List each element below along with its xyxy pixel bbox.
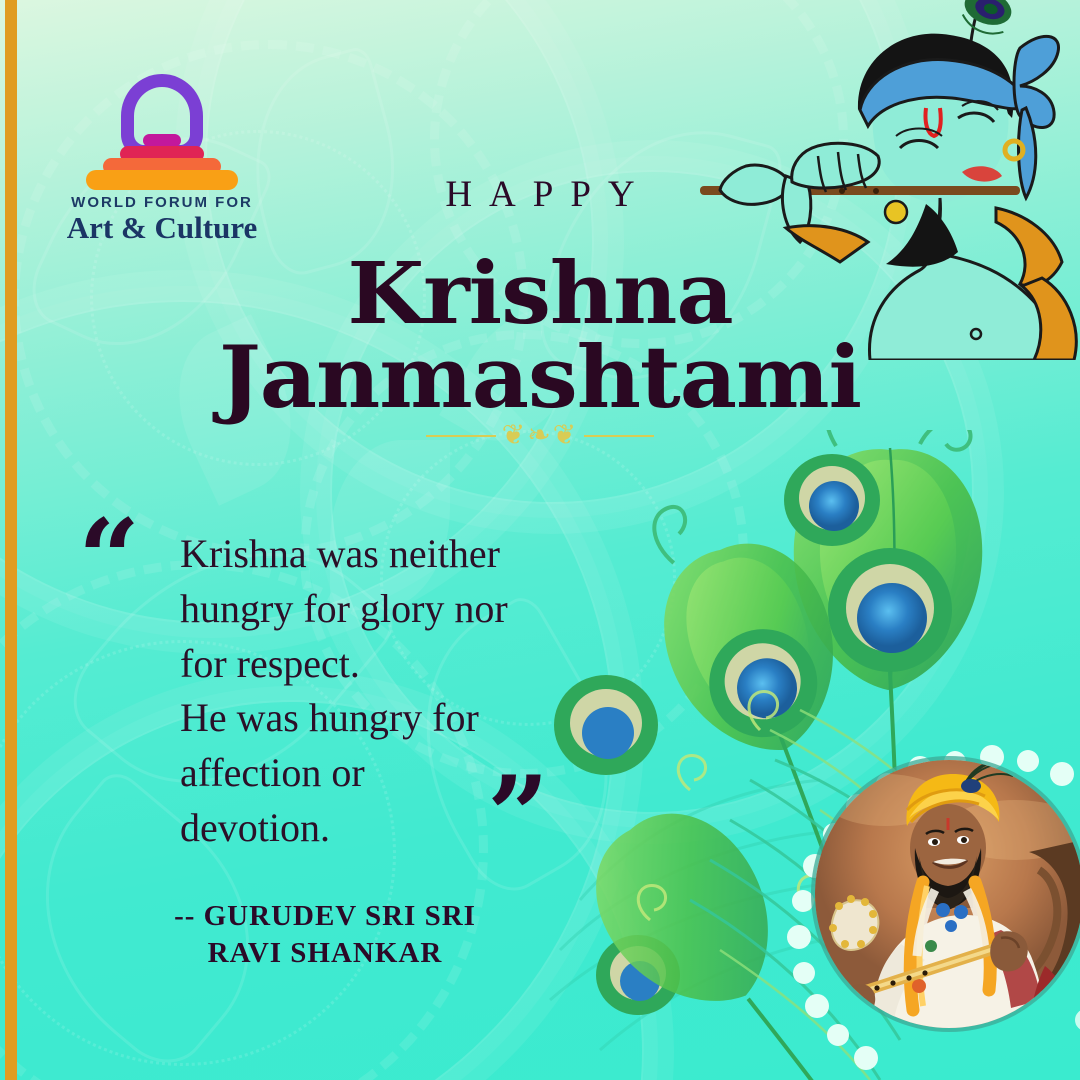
world-forum-logo: WORLD FORUM FOR Art & Culture	[62, 72, 262, 245]
quote-line: Krishna was neither	[180, 527, 580, 582]
eyebrow-text: HAPPY	[0, 173, 1080, 216]
quote-text: Krishna was neither hungry for glory nor…	[180, 527, 580, 856]
attribution-line-2: RAVI SHANKAR	[110, 935, 540, 972]
quote-line: hungry for glory nor	[180, 582, 580, 637]
attribution-line-1: -- GURUDEV SRI SRI	[110, 898, 540, 935]
quote-line: He was hungry for	[180, 691, 580, 746]
title-line-2: Janmashtami	[0, 336, 1080, 420]
quote-line: devotion.	[180, 801, 580, 856]
page-title: Krishna Janmashtami	[0, 252, 1080, 420]
quote-line: affection or	[180, 746, 580, 801]
left-accent-border	[5, 0, 17, 1080]
krishna-janmashtami-poster: WORLD FORUM FOR Art & Culture	[0, 0, 1080, 1080]
pyramid-logo-icon	[72, 72, 252, 184]
gurudev-portrait-avatar	[815, 760, 1080, 1028]
quote-line: for respect.	[180, 637, 580, 692]
logo-name: Art & Culture	[62, 212, 262, 245]
ornamental-divider-icon: ❦❧❦	[0, 418, 1080, 451]
open-quote-icon: “	[78, 505, 140, 613]
quote-attribution: -- GURUDEV SRI SRI RAVI SHANKAR	[110, 898, 540, 972]
